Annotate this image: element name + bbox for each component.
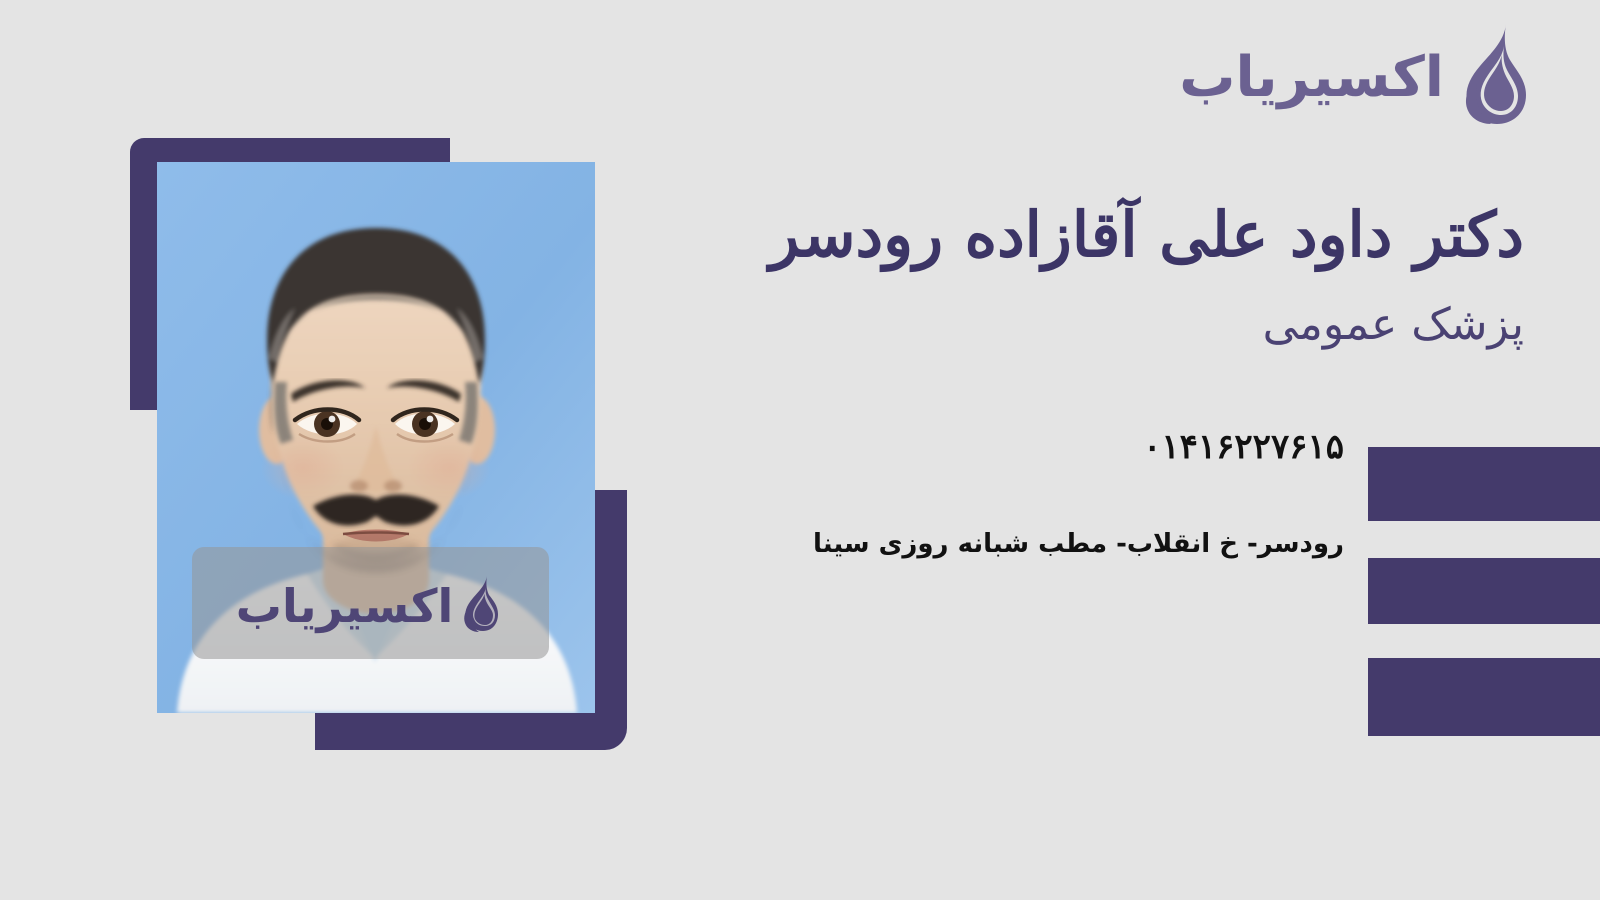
doctor-specialty: پزشک عمومی: [484, 296, 1524, 353]
flame-drop-icon: [459, 574, 505, 632]
brand-name: اکسیریاب: [1179, 50, 1444, 106]
brand-logo[interactable]: اکسیریاب: [1179, 22, 1540, 126]
doctor-info-block: دکتر داود علی آقازاده رودسر پزشک عمومی ۰…: [484, 196, 1524, 559]
decorative-bar-2: [1368, 558, 1600, 624]
photo-watermark: اکسیریاب: [192, 547, 549, 659]
flame-drop-icon: [1454, 22, 1540, 126]
page-title: دکتر داود علی آقازاده رودسر: [484, 196, 1524, 274]
photo-watermark-text: اکسیریاب: [236, 583, 454, 629]
doctor-profile-card: اکسیریاب دکتر داود علی آقازاده رودسر پزش…: [0, 0, 1600, 900]
doctor-phone[interactable]: ۰۱۴۱۶۲۲۷۶۱۵: [484, 427, 1524, 467]
doctor-address: رودسر- خ انقلاب- مطب شبانه روزی سینا: [484, 529, 1524, 559]
decorative-bar-3: [1368, 658, 1600, 736]
